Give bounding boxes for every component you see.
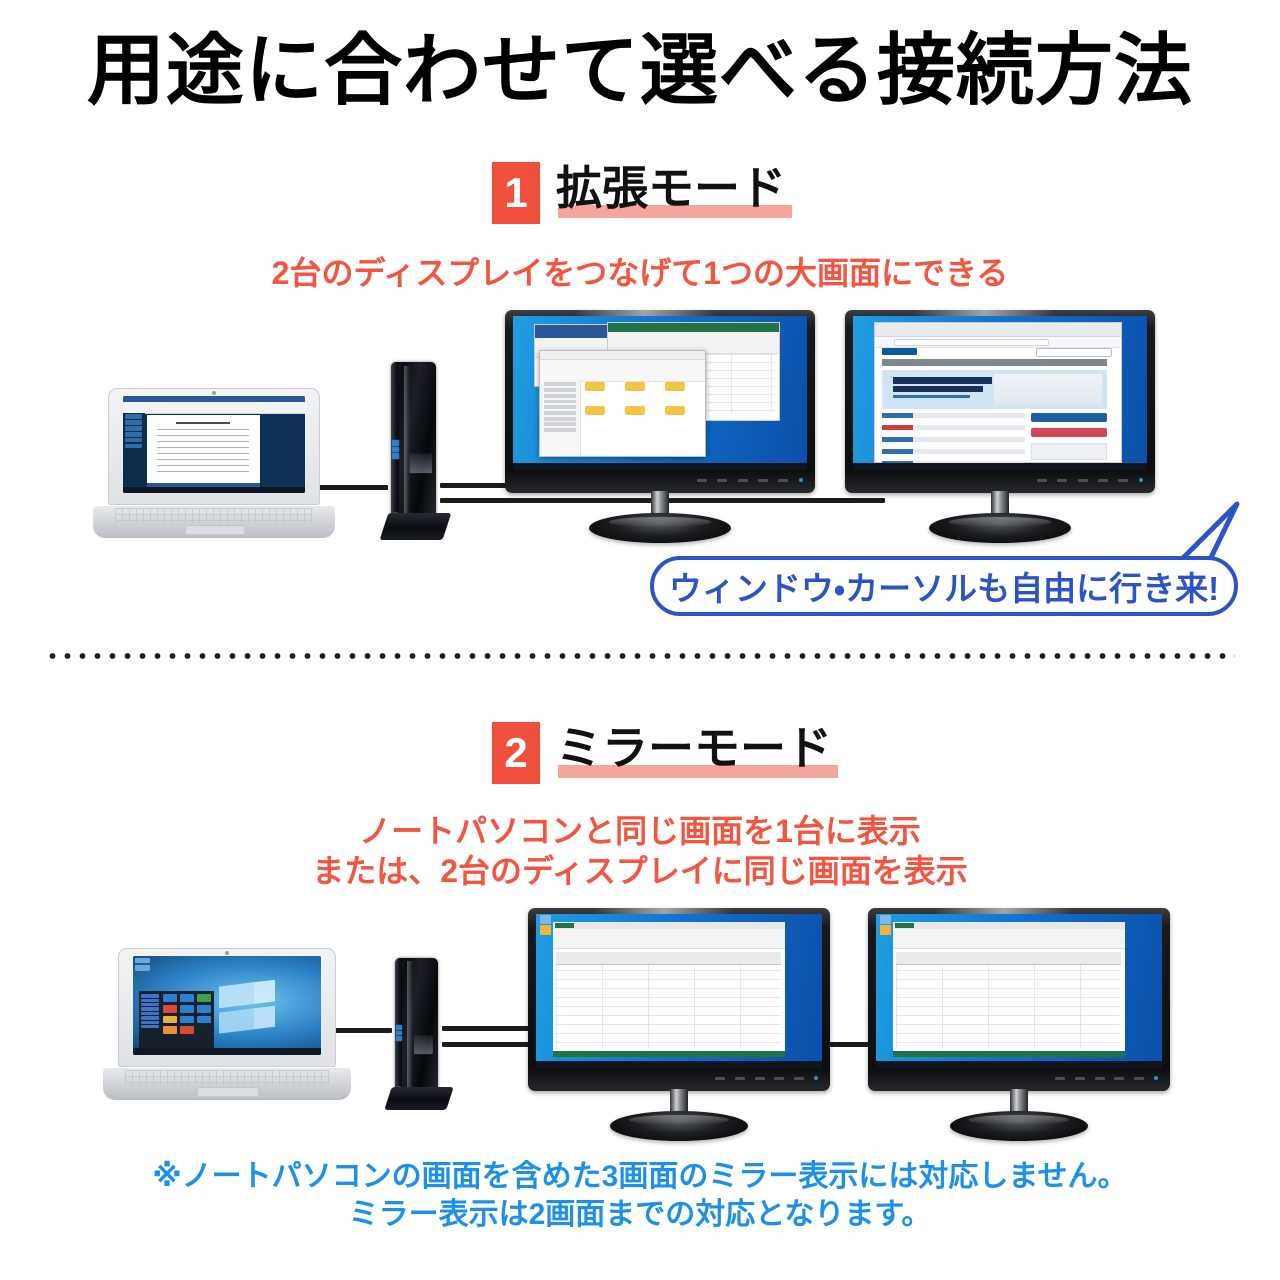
start-menu-app-list[interactable] <box>141 994 159 1044</box>
monitor-1-osd-buttons[interactable] <box>697 472 802 488</box>
folder-icon <box>585 382 605 391</box>
word-doc-title <box>176 422 230 424</box>
news-item[interactable] <box>882 425 1025 430</box>
word-tabbar <box>123 396 305 402</box>
desktop-icons-strip <box>879 914 893 1068</box>
laptop-extended <box>108 388 320 538</box>
dock-gloss-reflection <box>404 366 410 516</box>
excel-window-titlebar <box>608 323 778 332</box>
explorer-titlebar <box>540 351 705 360</box>
monitor-4-osd-buttons[interactable] <box>1055 1070 1158 1086</box>
extended-mode-callout: ウィンドウ・カーソルも自由に行き来! <box>650 556 1238 616</box>
laptop-lid <box>108 388 320 505</box>
monitor-4-mirror <box>868 908 1170 1140</box>
monitor-1-bezel <box>505 310 815 493</box>
monitor-4-bezel <box>868 908 1170 1091</box>
mode-2-label: ミラーモード <box>556 722 832 774</box>
laptop-screen <box>123 396 305 493</box>
usb3-port-icon <box>392 453 398 458</box>
excel-column-headers <box>556 952 781 965</box>
site-logo <box>882 348 917 355</box>
word-body-text <box>157 429 250 477</box>
cable-dock-to-monitor-3 <box>442 1026 540 1031</box>
mode-2-description-line-2: または、2台のディスプレイに同じ画面を表示 <box>0 846 1280 892</box>
excel-tabbar <box>553 922 785 929</box>
folder-icon <box>625 406 645 415</box>
footnote: ※ノートパソコンの画面を含めた3画面のミラー表示には対応しません。 ミラー表示は… <box>0 1158 1280 1235</box>
monitor-2-screen <box>853 316 1147 470</box>
site-search-input[interactable] <box>1036 348 1112 357</box>
scene-mirror-mode <box>0 900 1280 1150</box>
sidebar-info-box <box>1031 443 1106 460</box>
section-divider <box>45 652 1235 660</box>
word-document-app <box>123 396 305 493</box>
monitor-2-bezel <box>845 310 1155 493</box>
site-hero-banner[interactable] <box>882 370 1107 409</box>
laptop-keyboard <box>125 1070 329 1086</box>
mode-1-description: 2台のディスプレイをつなげて1つの大画面にできる <box>0 248 1280 294</box>
scene-extended-mode <box>0 300 1280 560</box>
sidebar-column <box>1031 413 1106 457</box>
monitor-1-taskbar <box>513 463 807 470</box>
start-menu-tiles[interactable] <box>163 994 211 1034</box>
dock-usb-ports <box>392 440 398 501</box>
monitor-3-screen <box>536 914 822 1068</box>
folder-icon <box>665 382 685 391</box>
mode-2-label-wrap: ミラーモード <box>556 722 832 778</box>
word-page <box>147 415 260 485</box>
monitor-2-stand-base <box>929 513 1072 543</box>
docking-station-extended <box>378 362 450 540</box>
docking-station-mirror <box>382 958 452 1110</box>
power-led-icon <box>1154 1076 1158 1080</box>
sidebar-button-primary[interactable] <box>1031 413 1106 422</box>
laptop-camera-icon <box>225 951 229 955</box>
excel-tabbar <box>893 922 1125 929</box>
mode-1-heading: 1 拡張モード <box>492 162 786 224</box>
browser-window <box>874 322 1123 463</box>
monitor-2-osd-buttons[interactable] <box>1037 472 1142 488</box>
power-led-icon <box>1139 478 1143 482</box>
monitor-4-taskbar <box>876 1061 1162 1068</box>
news-item[interactable] <box>882 413 1025 418</box>
mode-1-label: 拡張モード <box>556 162 786 214</box>
dock-brand-logo <box>414 1035 433 1054</box>
infographic-page: 用途に合わせて選べる接続方法 1 拡張モード 2台のディスプレイをつなげて1つの… <box>0 0 1280 1280</box>
laptop-keyboard <box>115 508 313 524</box>
monitor-3-osd-buttons[interactable] <box>715 1070 818 1086</box>
excel-ribbon <box>893 922 1125 949</box>
browser-address-bar[interactable] <box>875 337 1122 348</box>
footnote-line-1: ※ノートパソコンの画面を含めた3画面のミラー表示には対応しません。 <box>0 1158 1280 1196</box>
folder-icon <box>665 406 685 415</box>
power-led-icon <box>799 478 803 482</box>
desktop-icons-strip <box>539 914 553 1068</box>
usb3-port-icon <box>392 447 398 452</box>
explorer-nav-pane <box>540 380 580 455</box>
folder-icon <box>625 382 645 391</box>
monitor-1-stand-base <box>589 513 732 543</box>
excel-spreadsheet <box>553 922 785 1057</box>
monitor-4-screen <box>876 914 1162 1068</box>
monitor-3-mirror <box>528 908 830 1140</box>
dock-stand <box>384 1087 453 1110</box>
word-ribbon <box>123 396 305 414</box>
hero-headline-1 <box>893 377 992 383</box>
news-item[interactable] <box>882 449 1025 454</box>
page-title: 用途に合わせて選べる接続方法 <box>0 30 1280 112</box>
file-explorer-window <box>539 350 706 457</box>
monitor-4-stand-base <box>950 1111 1089 1141</box>
laptop-taskbar <box>123 487 305 494</box>
excel-cells-grid <box>556 952 781 1050</box>
desktop-icons-strip <box>123 413 145 487</box>
sidebar-button-secondary[interactable] <box>1031 428 1106 437</box>
usb3-port-icon <box>396 1031 402 1036</box>
news-item[interactable] <box>882 437 1025 442</box>
excel-status-bar <box>893 1051 1125 1058</box>
excel-status-bar <box>553 1051 785 1058</box>
mode-2-badge: 2 <box>492 722 540 784</box>
hero-subline <box>893 395 969 398</box>
dock-gloss-reflection <box>407 961 413 1089</box>
monitor-3-taskbar <box>536 1061 822 1068</box>
mode-1-badge: 1 <box>492 162 540 224</box>
hero-photo <box>994 374 1102 407</box>
monitor-2-taskbar <box>853 463 1147 470</box>
dock-stand <box>379 513 451 540</box>
usb3-port-icon <box>392 440 398 445</box>
excel-ribbon <box>553 922 785 949</box>
explorer-file-grid <box>585 382 700 445</box>
site-nav-bar[interactable] <box>882 359 1107 366</box>
laptop-trackpad <box>197 1087 259 1096</box>
windows-logo-icon <box>219 977 294 1033</box>
excel-spreadsheet <box>893 922 1125 1057</box>
power-led-icon <box>814 1076 818 1080</box>
mode-1-label-wrap: 拡張モード <box>556 162 786 218</box>
mode-2-heading: 2 ミラーモード <box>492 722 832 784</box>
footnote-line-2: ミラー表示は2画面までの対応となります。 <box>0 1196 1280 1234</box>
excel-column-headers <box>896 952 1121 965</box>
dock-brand-logo <box>409 454 431 473</box>
excel-cells-grid <box>896 952 1121 1050</box>
usb3-port-icon <box>396 1036 402 1041</box>
site-content-columns <box>882 413 1107 457</box>
dock-usb-ports <box>396 1025 402 1077</box>
monitor-3-bezel <box>528 908 830 1091</box>
monitor-1-screen <box>513 316 807 470</box>
news-column <box>882 413 1025 457</box>
laptop-lid <box>118 948 336 1067</box>
laptop-keyboard-base <box>103 1067 352 1100</box>
hero-headline-2 <box>893 386 983 392</box>
laptop-mirror <box>118 948 336 1100</box>
laptop-camera-icon <box>212 391 216 395</box>
browser-tabbar <box>875 323 1122 336</box>
laptop-keyboard-base <box>93 505 335 538</box>
laptop-screen <box>133 956 320 1054</box>
usb3-port-icon <box>396 1025 402 1030</box>
monitor-3-stand-base <box>610 1111 749 1141</box>
folder-icon <box>585 406 605 415</box>
laptop-taskbar <box>133 1048 320 1055</box>
laptop-trackpad <box>185 525 245 534</box>
explorer-ribbon <box>540 360 705 382</box>
monitor-1-extended <box>505 310 815 542</box>
start-menu[interactable] <box>139 991 214 1048</box>
